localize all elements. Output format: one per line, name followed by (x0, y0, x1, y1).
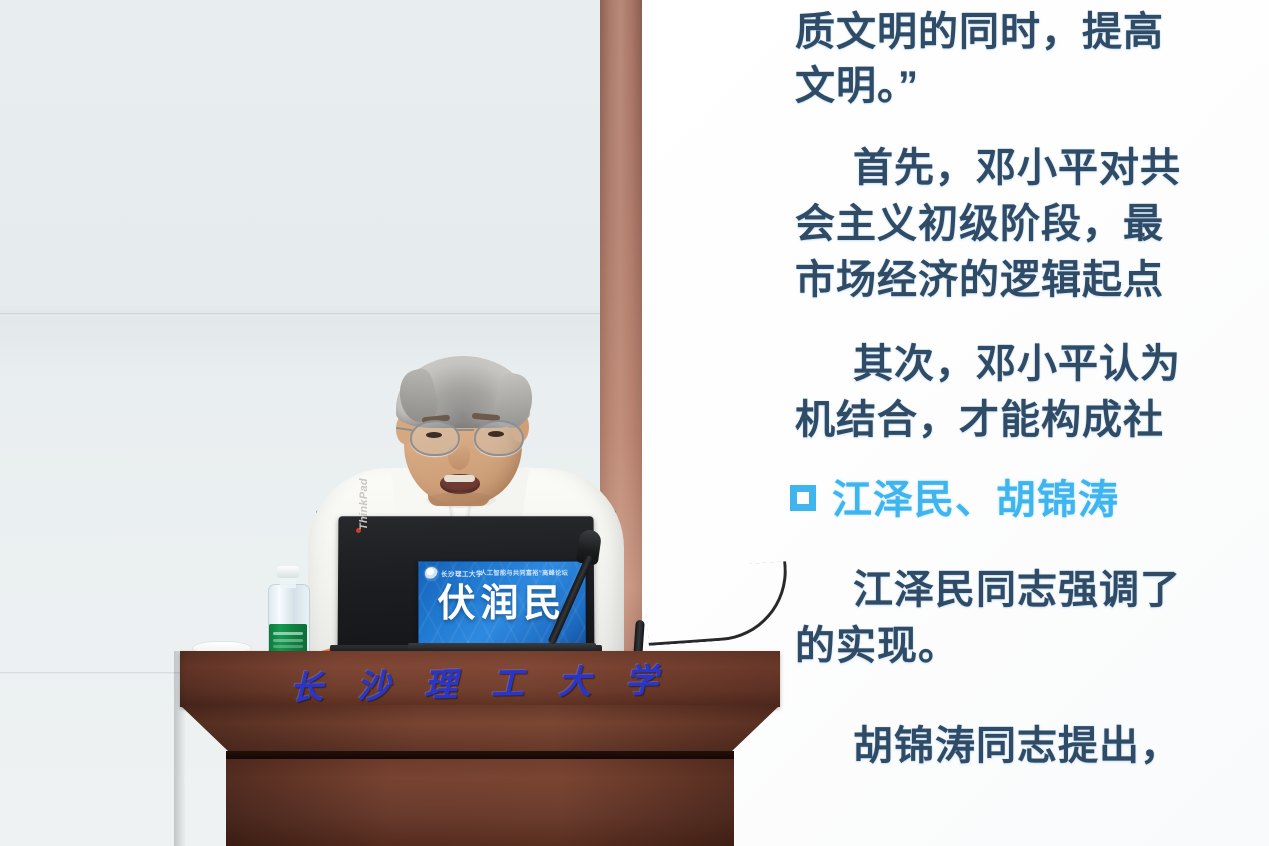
slide-heading-line: 江泽民、胡锦涛 (790, 472, 1269, 528)
eyeglasses (408, 420, 524, 454)
thinkpad-wordmark: ThinkPad (358, 478, 370, 530)
lecture-photo-scene: 质文明的同时，提高 文明。” 首先，邓小平对共 会主义初级阶段，最 市场经济的逻… (0, 0, 1269, 846)
name-placard: 长沙理工大学 “人工智能与共同富裕”高峰论坛 伏润民 (418, 561, 586, 647)
placard-event-title: “人工智能与共同富裕”高峰论坛 (477, 568, 568, 577)
slide-line-5: 市场经济的逻辑起点 (795, 252, 1269, 308)
slide-line-7: 机结合，才能构成社 (795, 392, 1269, 448)
podium-bevel (180, 705, 780, 751)
slide-line-6: 其次，邓小平认为 (795, 336, 1269, 392)
chin-shadow (426, 492, 496, 508)
slide-line-2: 文明。” (795, 58, 1269, 114)
slide-line-1: 质文明的同时，提高 (795, 4, 1269, 60)
slide-line-9: 江泽民同志强调了 (795, 562, 1269, 618)
podium-shadow-gap (226, 751, 734, 759)
wall-seam-upper (0, 313, 642, 316)
square-bullet-icon (790, 485, 816, 511)
podium-body (226, 759, 734, 846)
lens-right (474, 420, 524, 456)
water-bottle (268, 566, 308, 662)
slide-line-10: 的实现。 (795, 618, 1269, 674)
lens-left (410, 420, 460, 456)
slide-line-11: 胡锦涛同志提出， (795, 718, 1269, 774)
teeth (444, 475, 475, 482)
eye-right (488, 431, 504, 437)
slide-line-4: 会主义初级阶段，最 (795, 196, 1269, 252)
eye-left (426, 432, 442, 438)
podium-edge-shadow (174, 651, 186, 846)
university-seal-icon (425, 567, 438, 580)
slide-heading-text: 江泽民、胡锦涛 (832, 478, 1119, 522)
podium-top-surface (180, 651, 780, 707)
glasses-bridge (456, 429, 474, 431)
slide-line-3: 首先，邓小平对共 (795, 140, 1269, 196)
bottle-cap (277, 566, 299, 578)
